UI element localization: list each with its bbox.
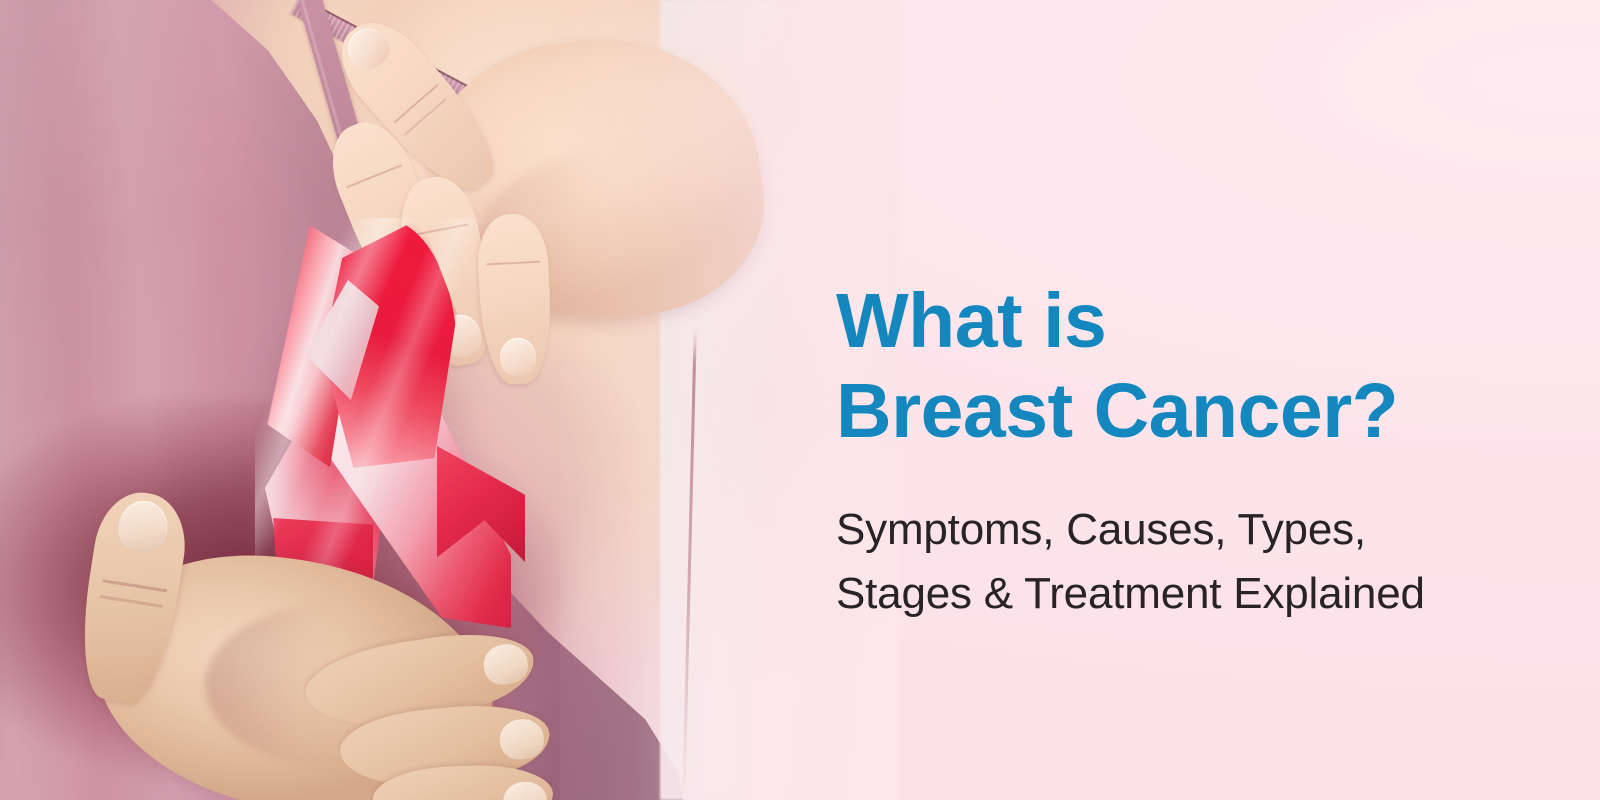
finger-crease <box>394 84 439 123</box>
headline-text-block: What is Breast Cancer? Symptoms, Causes,… <box>836 276 1536 626</box>
fingernail <box>502 781 547 800</box>
headline-line-2: Breast Cancer? <box>836 366 1536 456</box>
headline-line-1: What is <box>836 276 1536 366</box>
thumb-crease <box>102 579 168 592</box>
fingernail <box>481 641 531 687</box>
hero-photo <box>0 0 900 800</box>
lower-hand <box>55 490 535 800</box>
subhead-line-1: Symptoms, Causes, Types, <box>836 498 1536 562</box>
thumbnail <box>115 497 171 556</box>
breast-cancer-awareness-banner: What is Breast Cancer? Symptoms, Causes,… <box>0 0 1600 800</box>
subhead-line-2: Stages & Treatment Explained <box>836 562 1536 626</box>
finger-crease <box>346 164 402 188</box>
fingernail <box>498 717 545 761</box>
thumb-crease <box>99 595 163 608</box>
finger-crease <box>404 98 447 135</box>
